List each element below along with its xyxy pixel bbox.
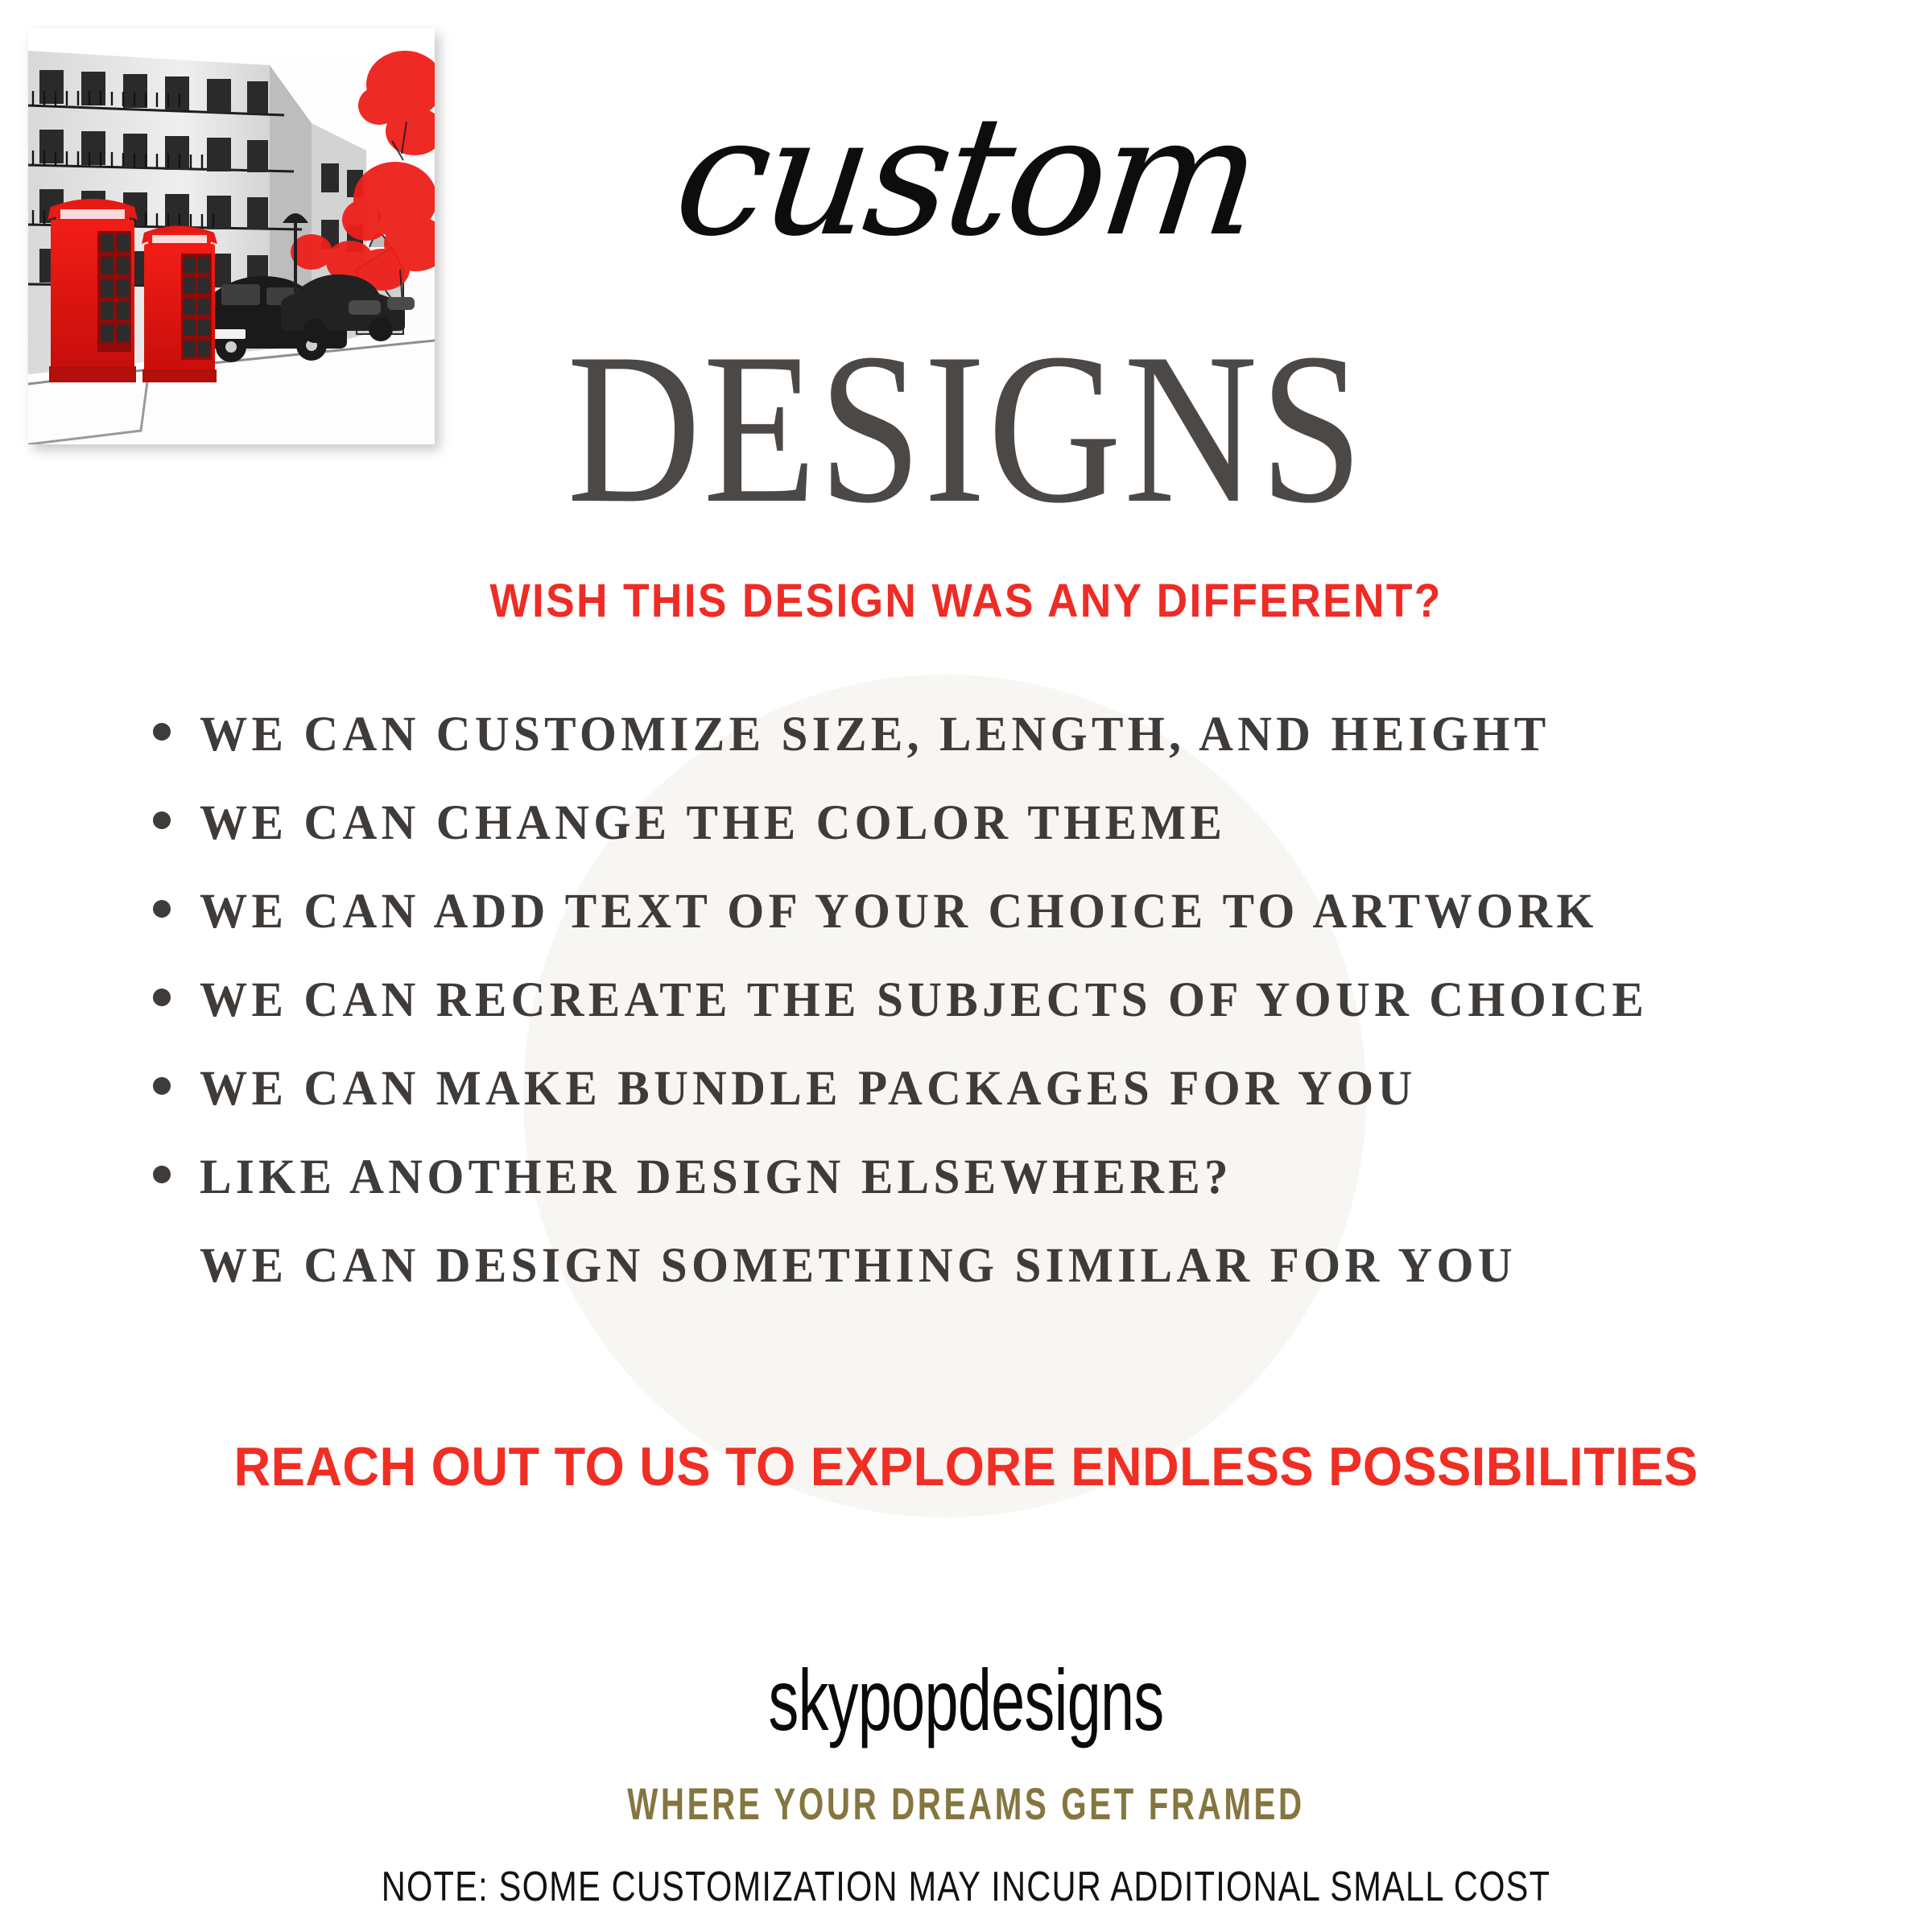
list-item-label: WE CAN ADD TEXT OF YOUR CHOICE TO ARTWOR… [200, 887, 1598, 936]
list-item: WE CAN RECREATE THE SUBJECTS OF YOUR CHO… [153, 976, 1843, 1064]
benefits-list: WE CAN CUSTOMIZE SIZE, LENGTH, AND HEIGH… [153, 710, 1843, 1328]
list-item-label: WE CAN RECREATE THE SUBJECTS OF YOUR CHO… [200, 976, 1648, 1025]
product-thumbnail[interactable] [28, 28, 435, 444]
london-street-artwork-icon [28, 28, 435, 444]
list-item-label: LIKE ANOTHER DESIGN ELSEWHERE? [200, 1153, 1232, 1202]
bullet-dot-icon [153, 723, 171, 741]
call-to-action[interactable]: REACH OUT TO US TO EXPLORE ENDLESS POSSI… [68, 1439, 1864, 1494]
list-item: WE CAN ADD TEXT OF YOUR CHOICE TO ARTWOR… [153, 887, 1843, 976]
list-item-label: WE CAN DESIGN SOMETHING SIMILAR FOR YOU [200, 1241, 1517, 1290]
list-item-label: WE CAN CHANGE THE COLOR THEME [200, 799, 1226, 848]
subheadline: WISH THIS DESIGN WAS ANY DIFFERENT? [77, 578, 1855, 625]
custom-designs-poster: custom DESIGNS WISH THIS DESIGN WAS ANY … [0, 0, 1932, 1932]
list-item-label: WE CAN CUSTOMIZE SIZE, LENGTH, AND HEIGH… [200, 710, 1550, 759]
list-item: WE CAN CUSTOMIZE SIZE, LENGTH, AND HEIGH… [153, 710, 1843, 799]
bullet-dot-icon [153, 989, 171, 1006]
list-item-continuation: WE CAN DESIGN SOMETHING SIMILAR FOR YOU [153, 1241, 1843, 1328]
brand-logo-text: skypopdesigns [290, 1657, 1642, 1744]
bullet-dot-icon [153, 900, 171, 918]
brand-tagline: WHERE YOUR DREAMS GET FRAMED [270, 1781, 1662, 1827]
bullet-dot-icon [153, 1077, 171, 1095]
bullet-dot-icon [153, 1166, 171, 1183]
list-item: LIKE ANOTHER DESIGN ELSEWHERE? [153, 1153, 1843, 1241]
list-item: WE CAN CHANGE THE COLOR THEME [153, 799, 1843, 887]
bullet-dot-placeholder-icon [153, 1254, 171, 1272]
list-item: WE CAN MAKE BUNDLE PACKAGES FOR YOU [153, 1064, 1843, 1153]
footnote: NOTE: SOME CUSTOMIZATION MAY INCUR ADDIT… [193, 1866, 1739, 1908]
bullet-dot-icon [153, 811, 171, 829]
list-item-label: WE CAN MAKE BUNDLE PACKAGES FOR YOU [200, 1064, 1417, 1113]
